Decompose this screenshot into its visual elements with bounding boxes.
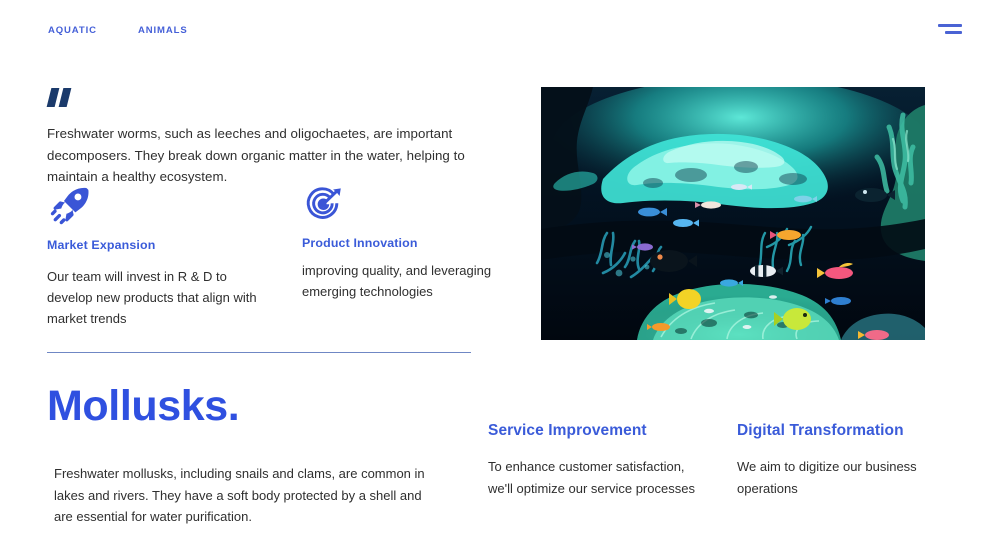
coral-reef-aquarium-photo — [541, 87, 925, 340]
feature-body-product-innovation: improving quality, and leveraging emergi… — [302, 260, 512, 302]
feature-service-improvement: Service Improvement To enhance customer … — [488, 422, 703, 512]
target-arrow-icon — [302, 182, 346, 226]
section-divider — [47, 352, 471, 353]
section-title-mollusks: Mollusks. — [47, 381, 239, 431]
nav-link-animals[interactable]: ANIMALS — [138, 25, 188, 36]
feature-title-digital-transformation: Digital Transformation — [737, 422, 937, 440]
feature-title-product-innovation: Product Innovation — [302, 236, 512, 250]
feature-body-market-expansion: Our team will invest in R & D to develop… — [47, 266, 275, 329]
feature-title-service-improvement: Service Improvement — [488, 422, 703, 440]
feature-body-digital-transformation: We aim to digitize our business operatio… — [737, 456, 937, 499]
feature-market-expansion: Market Expansion Our team will invest in… — [47, 182, 275, 342]
quote-stroke-right — [59, 88, 72, 107]
feature-body-service-improvement: To enhance customer satisfaction, we'll … — [488, 456, 703, 499]
top-navigation-bar: AQUATIC ANIMALS — [0, 0, 993, 62]
feature-product-innovation: Product Innovation improving quality, an… — [302, 182, 512, 315]
feature-digital-transformation: Digital Transformation We aim to digitiz… — [737, 422, 937, 512]
nav-link-aquatic[interactable]: AQUATIC — [48, 25, 97, 36]
feature-title-market-expansion: Market Expansion — [47, 238, 275, 252]
hamburger-menu-icon[interactable] — [938, 22, 962, 36]
quote-stroke-left — [47, 88, 60, 107]
hamburger-bar-bottom — [945, 31, 962, 34]
section-body-mollusks: Freshwater mollusks, including snails an… — [54, 463, 430, 528]
quotation-mark-icon — [47, 88, 81, 107]
quote-text: Freshwater worms, such as leeches and ol… — [47, 123, 479, 188]
rocket-icon — [47, 182, 93, 228]
hamburger-bar-top — [938, 24, 962, 27]
